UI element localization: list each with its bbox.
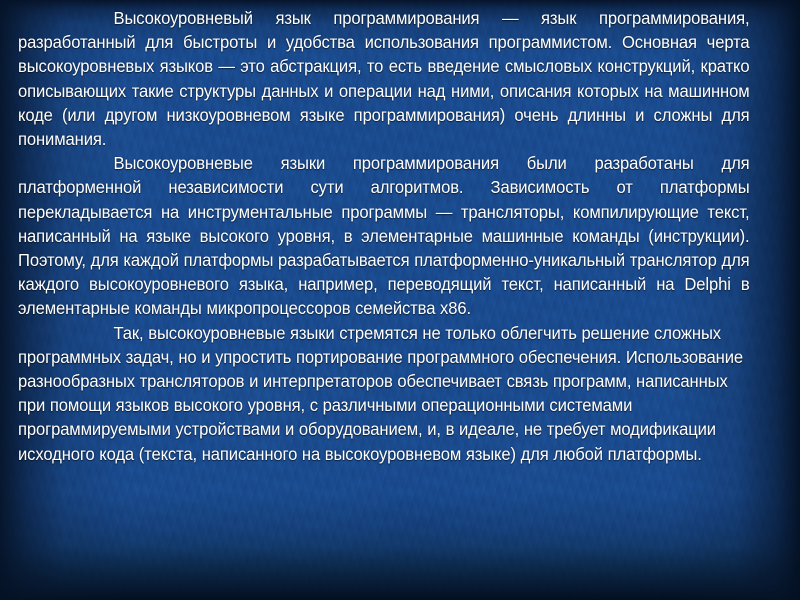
paragraph-3: Так, высокоуровневые языки стремятся не … (18, 321, 750, 466)
slide-text-body: Высокоуровневый язык программирования — … (18, 6, 784, 466)
paragraph-1: Высокоуровневый язык программирования — … (18, 6, 750, 151)
paragraph-2: Высокоуровневые языки программирования б… (18, 151, 750, 320)
presentation-slide: Высокоуровневый язык программирования — … (0, 0, 800, 600)
